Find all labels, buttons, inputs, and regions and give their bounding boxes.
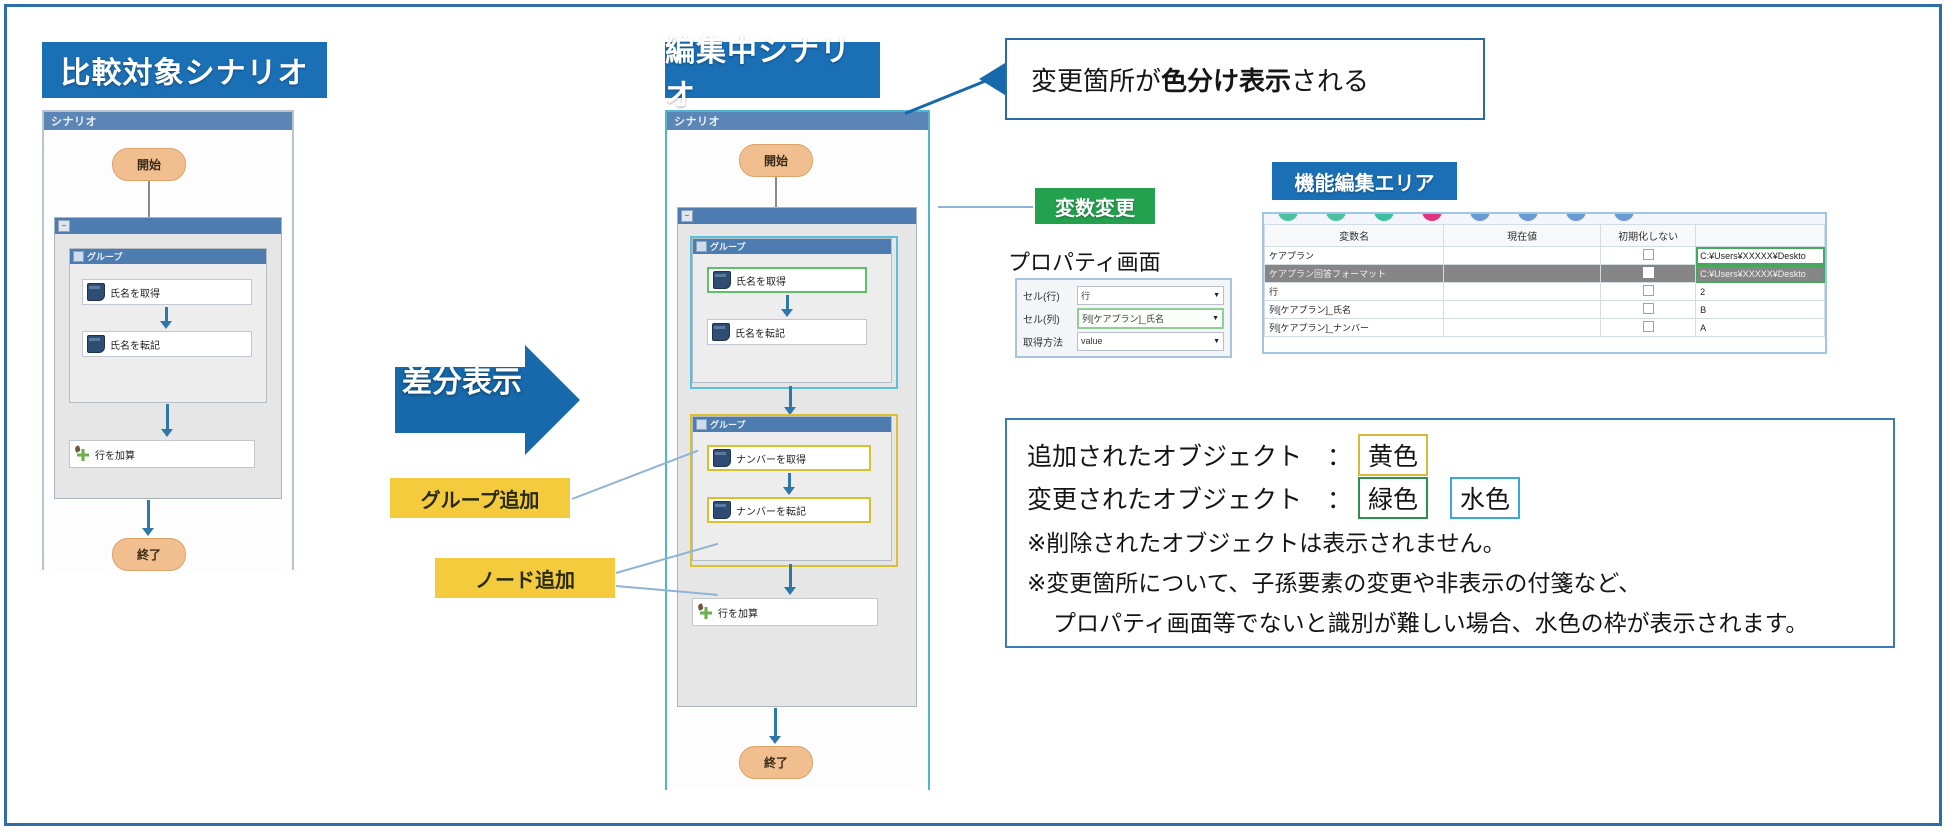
edit-node-2[interactable]: 氏名を転記 <box>707 319 867 345</box>
cell-current <box>1444 301 1601 319</box>
cell-current <box>1444 283 1601 301</box>
property-field-changed[interactable]: 列[ケアプラン]_氏名 ▼ <box>1077 308 1224 329</box>
variables-table-wrap: 変数名 現在値 初期化しない ケアプラン C:¥Users¥XXXXX¥Desk… <box>1262 212 1827 354</box>
python-icon <box>712 323 730 341</box>
edit-node-2-label: 氏名を転記 <box>735 325 785 340</box>
property-value: 列[ケアプラン]_氏名 <box>1082 312 1164 325</box>
compare-scenario-title: 比較対象シナリオ <box>42 42 327 98</box>
legend-note-3: プロパティ画面等でないと識別が難しい場合、水色の枠が表示されます。 <box>1027 604 1873 638</box>
decor-dot <box>1470 214 1490 221</box>
cell-value: C:¥Users¥XXXXX¥Deskto <box>1696 265 1825 283</box>
edit-group-1: グループ 氏名を取得 氏名を転記 <box>692 238 892 383</box>
compare-after-node-label: 行を加算 <box>95 447 135 462</box>
property-label: セル(列) <box>1023 311 1071 326</box>
cell-current <box>1444 319 1601 337</box>
variable-change-chip: 変数変更 <box>1035 188 1155 224</box>
property-field[interactable]: 行 ▼ <box>1077 286 1224 305</box>
color-coded-callout-tail <box>979 63 1005 95</box>
legend-line-changed: 変更されたオブジェクト ： 緑色 水色 <box>1027 476 1873 520</box>
cell-name: 列[ケアプラン]_氏名 <box>1265 301 1444 319</box>
cell-name: ケアプラン <box>1265 247 1444 265</box>
compare-connector-2 <box>142 500 155 538</box>
edit-after-node[interactable]: 行を加算 <box>692 598 878 626</box>
col-header-init[interactable]: 初期化しない <box>1600 225 1695 247</box>
edit-after-arrow <box>784 564 797 596</box>
property-field[interactable]: value ▼ <box>1077 332 1224 351</box>
python-icon <box>87 335 105 353</box>
compare-block-arrow <box>161 404 174 438</box>
legend-tag-cyan: 水色 <box>1450 477 1520 519</box>
cell-name: ケアプラン回答フォーマット <box>1265 265 1444 283</box>
checkbox-icon[interactable] <box>1643 285 1654 296</box>
property-label: 取得方法 <box>1023 334 1071 349</box>
edit-node-3-label: ナンバーを取得 <box>736 451 806 466</box>
table-row[interactable]: ケアプラン回答フォーマット C:¥Users¥XXXXX¥Deskto <box>1265 265 1825 283</box>
compare-node-1[interactable]: 氏名を取得 <box>82 279 252 305</box>
property-row: セル(列) 列[ケアプラン]_氏名 ▼ <box>1017 306 1230 330</box>
edit-end-node[interactable]: 終了 <box>739 746 813 779</box>
cell-current <box>1444 247 1601 265</box>
edit-panel-header: シナリオ <box>667 112 928 130</box>
compare-panel-header: シナリオ <box>44 112 292 130</box>
compare-after-node[interactable]: 行を加算 <box>69 440 255 468</box>
group-icon <box>73 251 84 262</box>
legend-added-label: 追加されたオブジェクト ： <box>1027 437 1352 473</box>
edit-group-gap-arrow <box>784 386 797 416</box>
group-added-chip: グループ追加 <box>390 478 570 518</box>
chevron-down-icon[interactable]: ▼ <box>1213 338 1220 345</box>
group-icon <box>696 241 707 252</box>
edit-scenario-panel: シナリオ 開始 − グループ 氏名を取得 <box>665 110 930 790</box>
table-tab-decorations <box>1264 214 1825 224</box>
edit-connector-2 <box>769 708 782 746</box>
col-header-value[interactable] <box>1696 225 1825 247</box>
decor-dot <box>1422 214 1442 221</box>
legend-tag-green: 緑色 <box>1358 477 1428 519</box>
decor-dot <box>1326 214 1346 221</box>
decor-dot <box>1518 214 1538 221</box>
property-label: セル(行) <box>1023 288 1071 303</box>
compare-group-header: グループ <box>70 249 266 264</box>
property-value: 行 <box>1081 289 1090 302</box>
edit-node-4[interactable]: ナンバーを転記 <box>707 497 871 523</box>
compare-group-label: グループ <box>87 250 122 263</box>
legend-box: 追加されたオブジェクト ： 黄色 変更されたオブジェクト ： 緑色 水色 ※削除… <box>1005 418 1895 648</box>
edit-group-2: グループ ナンバーを取得 ナンバーを転記 <box>692 416 892 561</box>
add-row-icon <box>74 446 90 462</box>
edit-group-1-label: グループ <box>710 240 745 253</box>
edit-group-1-header: グループ <box>693 239 891 254</box>
decor-dot <box>1278 214 1298 221</box>
edit-node-1[interactable]: 氏名を取得 <box>707 267 867 293</box>
compare-end-node[interactable]: 終了 <box>112 538 186 571</box>
table-header-row: 変数名 現在値 初期化しない <box>1265 225 1825 247</box>
cell-init[interactable] <box>1600 265 1695 283</box>
collapse-icon[interactable]: − <box>681 210 693 222</box>
python-icon <box>713 449 731 467</box>
property-panel: セル(行) 行 ▼ セル(列) 列[ケアプラン]_氏名 ▼ 取得方法 value… <box>1015 278 1232 358</box>
cell-value: C:¥Users¥XXXXX¥Deskto <box>1696 247 1825 265</box>
page-frame <box>4 4 1942 826</box>
python-icon <box>87 283 105 301</box>
edit-node-4-label: ナンバーを転記 <box>736 503 806 518</box>
edit-group-2-header: グループ <box>693 417 891 432</box>
table-row[interactable]: ケアプラン C:¥Users¥XXXXX¥Deskto <box>1265 247 1825 265</box>
compare-start-node[interactable]: 開始 <box>112 148 186 181</box>
chevron-down-icon[interactable]: ▼ <box>1212 315 1219 322</box>
compare-scenario-panel: シナリオ 開始 − グループ 氏名を取得 <box>42 110 294 570</box>
cell-init[interactable] <box>1600 301 1695 319</box>
compare-connector-1 <box>148 181 150 217</box>
decor-dot <box>1614 214 1634 221</box>
decor-dot <box>1374 214 1394 221</box>
callout-prefix: 変更箇所が <box>1031 61 1161 98</box>
add-row-icon <box>697 604 713 620</box>
checkbox-icon[interactable] <box>1643 249 1654 260</box>
col-header-name[interactable]: 変数名 <box>1265 225 1444 247</box>
python-icon <box>713 501 731 519</box>
property-value: value <box>1081 336 1103 346</box>
checkbox-icon[interactable] <box>1643 267 1654 278</box>
cell-value: 2 <box>1696 283 1825 301</box>
checkbox-icon[interactable] <box>1643 303 1654 314</box>
chevron-down-icon[interactable]: ▼ <box>1213 292 1220 299</box>
python-icon <box>713 271 731 289</box>
cell-value: A <box>1696 319 1825 337</box>
property-screen-title: プロパティ画面 <box>1008 245 1228 273</box>
checkbox-icon[interactable] <box>1643 321 1654 332</box>
table-row[interactable]: 列[ケアプラン]_氏名 B <box>1265 301 1825 319</box>
cell-init[interactable] <box>1600 283 1695 301</box>
compare-block-header: − <box>55 218 281 234</box>
cell-current <box>1444 265 1601 283</box>
group-icon <box>696 419 707 430</box>
cell-init[interactable] <box>1600 319 1695 337</box>
compare-group-box: グループ 氏名を取得 氏名を転記 <box>69 248 267 403</box>
callout-suffix: される <box>1291 61 1369 98</box>
edit-after-node-label: 行を加算 <box>718 605 758 620</box>
edit-node-1-label: 氏名を取得 <box>736 273 786 288</box>
node-added-chip: ノード追加 <box>435 558 615 598</box>
property-row: セル(行) 行 ▼ <box>1017 284 1230 306</box>
edit-group-1-arrow <box>781 295 794 317</box>
table-row[interactable]: 列[ケアプラン]_ナンバー A <box>1265 319 1825 337</box>
edit-block: − グループ 氏名を取得 氏名を転記 <box>677 207 917 707</box>
compare-block: − グループ 氏名を取得 氏名を転記 <box>54 217 282 499</box>
legend-line-added: 追加されたオブジェクト ： 黄色 <box>1027 434 1873 476</box>
legend-tag-yellow: 黄色 <box>1358 434 1428 476</box>
function-edit-area-title: 機能編集エリア <box>1272 162 1457 200</box>
variable-change-leader <box>938 206 1033 208</box>
legend-note-1: ※削除されたオブジェクトは表示されません。 <box>1027 524 1873 558</box>
callout-strong: 色分け表示 <box>1161 61 1291 98</box>
table-row[interactable]: 行 2 <box>1265 283 1825 301</box>
legend-note-2: ※変更箇所について、子孫要素の変更や非表示の付箋など、 <box>1027 564 1873 598</box>
color-coded-callout: 変更箇所が色分け表示される <box>1005 38 1485 120</box>
cell-name: 行 <box>1265 283 1444 301</box>
edit-node-3[interactable]: ナンバーを取得 <box>707 445 871 471</box>
compare-group-arrow <box>160 307 173 329</box>
edit-scenario-title: 編集中シナリオ <box>665 42 880 98</box>
legend-changed-label: 変更されたオブジェクト ： <box>1027 480 1352 516</box>
property-row: 取得方法 value ▼ <box>1017 330 1230 352</box>
col-header-current[interactable]: 現在値 <box>1444 225 1601 247</box>
decor-dot <box>1566 214 1586 221</box>
diff-display-label: 差分表示 <box>398 368 526 390</box>
edit-start-node[interactable]: 開始 <box>739 144 813 177</box>
cell-name: 列[ケアプラン]_ナンバー <box>1265 319 1444 337</box>
collapse-icon[interactable]: − <box>58 220 70 232</box>
edit-group-2-arrow <box>783 473 796 495</box>
compare-node-1-label: 氏名を取得 <box>110 285 160 300</box>
compare-node-2-label: 氏名を転記 <box>110 337 160 352</box>
variables-table: 変数名 現在値 初期化しない ケアプラン C:¥Users¥XXXXX¥Desk… <box>1264 224 1825 337</box>
edit-block-header: − <box>678 208 916 224</box>
edit-connector-1 <box>775 177 777 207</box>
cell-value: B <box>1696 301 1825 319</box>
cell-init[interactable] <box>1600 247 1695 265</box>
edit-group-2-label: グループ <box>710 418 745 431</box>
compare-node-2[interactable]: 氏名を転記 <box>82 331 252 357</box>
